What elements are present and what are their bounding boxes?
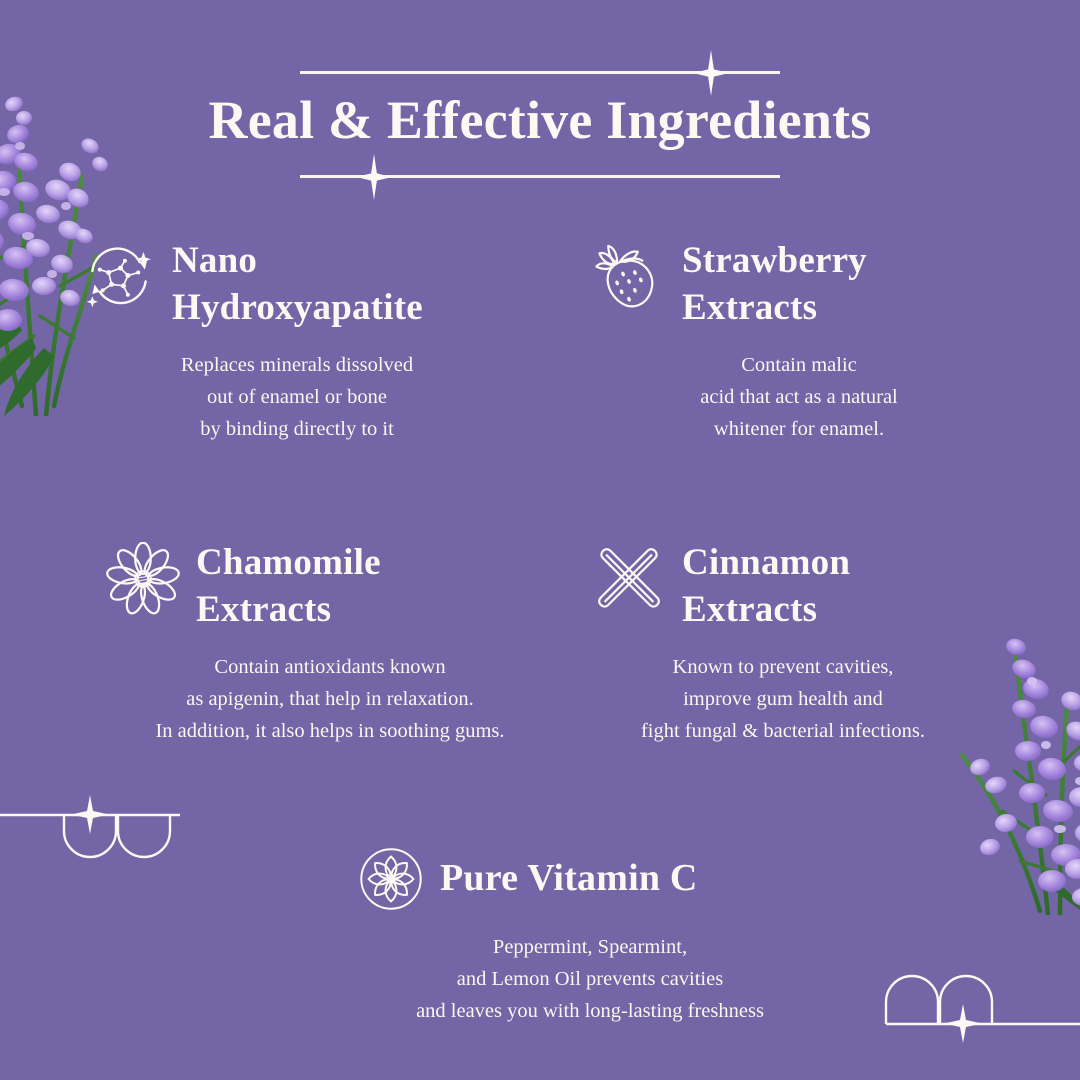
double-arch-ornament-left: [0, 775, 194, 875]
ingredient-name: Chamomile Extracts: [196, 540, 381, 634]
ingredient-description: Known to prevent cavities, improve gum h…: [574, 652, 992, 747]
ingredient-description: Peppermint, Spearmint, and Lemon Oil pre…: [340, 932, 840, 1027]
card-header: Cinnamon Extracts: [592, 540, 992, 634]
card-header: Chamomile Extracts: [106, 540, 554, 634]
ingredient-description: Contain antioxidants known as apigenin, …: [106, 652, 554, 747]
chamomile-flower-icon: [106, 542, 180, 616]
strawberry-icon: [592, 240, 666, 314]
citrus-slice-icon: [358, 846, 424, 912]
ingredient-description: Replaces minerals dissolved out of ename…: [82, 350, 512, 445]
ingredient-card-nano-hydroxyapatite: Nano Hydroxyapatite Replaces minerals di…: [82, 238, 512, 445]
card-header: Pure Vitamin C: [340, 844, 840, 912]
ingredients-infographic: Real & Effective Ingredients: [0, 0, 1080, 1080]
ingredient-name: Cinnamon Extracts: [682, 540, 850, 634]
card-header: Nano Hydroxyapatite: [82, 238, 512, 332]
card-header: Strawberry Extracts: [592, 238, 1012, 332]
ingredient-description: Contain malic acid that act as a natural…: [586, 350, 1012, 445]
nano-hydroxyapatite-icon: [82, 240, 156, 314]
ingredient-name: Strawberry Extracts: [682, 238, 867, 332]
ingredient-card-cinnamon: Cinnamon Extracts Known to prevent cavit…: [592, 540, 992, 747]
ingredient-name: Nano Hydroxyapatite: [172, 238, 423, 332]
cinnamon-sticks-icon: [592, 542, 666, 616]
ingredients-grid: Nano Hydroxyapatite Replaces minerals di…: [0, 0, 1080, 1080]
double-arch-ornament-right: [862, 962, 1080, 1062]
ingredient-card-chamomile: Chamomile Extracts Contain antioxidants …: [106, 540, 554, 747]
ingredient-name: Pure Vitamin C: [440, 854, 698, 902]
ingredient-card-pure-vitamin-c: Pure Vitamin C Peppermint, Spearmint, an…: [340, 844, 840, 1027]
ingredient-card-strawberry: Strawberry Extracts Contain malic acid t…: [592, 238, 1012, 445]
